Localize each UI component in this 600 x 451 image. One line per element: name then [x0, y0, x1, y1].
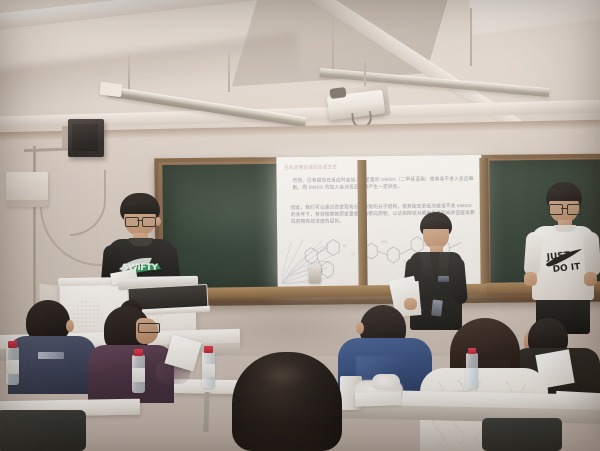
svg-text:O: O [351, 251, 354, 256]
bottle-label [202, 364, 215, 377]
presenter-right-hand-right [584, 272, 597, 286]
presenter-right: JUST DO IT [524, 182, 600, 332]
light-rod-near-b [228, 50, 230, 92]
blackboard-divider-left [357, 160, 367, 294]
bottle-cap [134, 349, 143, 356]
presenter-right-arm-right [582, 231, 600, 276]
student-navy-ear [66, 320, 74, 332]
presenter-center-fringe [421, 218, 451, 229]
student-blue-jacket-ear [356, 322, 364, 334]
presenter-right-arm-left [523, 231, 542, 276]
papers-front-right [556, 391, 600, 405]
desk-middle-leg [203, 392, 209, 432]
chair-back-right [482, 418, 562, 451]
nike-just-do-it-print: JUST DO IT [544, 248, 584, 274]
light-rod-near-a [128, 55, 130, 91]
slide-title: 已有药物合成的合成方式 [284, 164, 337, 171]
ceiling-skylight [468, 0, 600, 35]
svg-text:JUST: JUST [545, 251, 571, 264]
presenter-center-hand [404, 298, 417, 310]
ceiling-shadow [0, 32, 302, 118]
bottle-label [6, 360, 19, 374]
light-rod-far-b [470, 8, 472, 66]
presenter-left-fringe [121, 201, 159, 214]
board-eraser [309, 265, 321, 283]
presenter-right-glasses-icon [549, 204, 579, 213]
presenter-left-glasses-icon [125, 217, 155, 225]
student-navy-shirt-logo [38, 352, 64, 359]
student-navy-body [8, 336, 96, 394]
presenter-center [402, 212, 468, 332]
bottle-cap [8, 341, 17, 348]
speaker-grille-icon [72, 124, 98, 151]
papers-on-desk [355, 391, 401, 407]
svg-text:HN: HN [381, 239, 387, 244]
decorative-network-graphic [280, 237, 335, 286]
projector-lens-icon [329, 87, 346, 99]
electrical-panel-lip [6, 200, 48, 207]
student-purple-glasses-icon [138, 323, 160, 333]
bottle-label [132, 368, 145, 382]
presenter-center-arm-right [450, 257, 468, 304]
lectern-medallion-left [72, 300, 102, 330]
presenter-right-fringe [547, 189, 581, 201]
bottle-cap [468, 348, 476, 354]
light-rod-far-a [332, 18, 334, 70]
blackboard-divider-right [479, 158, 489, 294]
student-dark-hair-highlight [258, 362, 310, 388]
classroom-photograph: 已有药物合成的合成方式 然而，已有报告在反应时会加入一定量的 DMSO（二甲基亚… [0, 0, 600, 451]
presenter-right-collar [554, 225, 576, 232]
slide-paragraph-1: 然而，已有报告在反应时会加入一定量的 DMSO（二甲基亚砜）使其易于进入反应细胞… [293, 175, 475, 191]
chair-back-left [0, 410, 86, 451]
water-bottle [466, 353, 478, 389]
name-badge [438, 276, 449, 282]
tissue-pile-top [372, 374, 400, 390]
projector-mount-rod [364, 62, 366, 88]
svg-text:N: N [343, 243, 346, 248]
presenter-right-hand-left [524, 272, 537, 286]
svg-text:DO IT: DO IT [552, 262, 581, 274]
lanyard-card [431, 300, 443, 317]
bottle-cap [204, 346, 213, 353]
light-end-cap [99, 82, 122, 98]
